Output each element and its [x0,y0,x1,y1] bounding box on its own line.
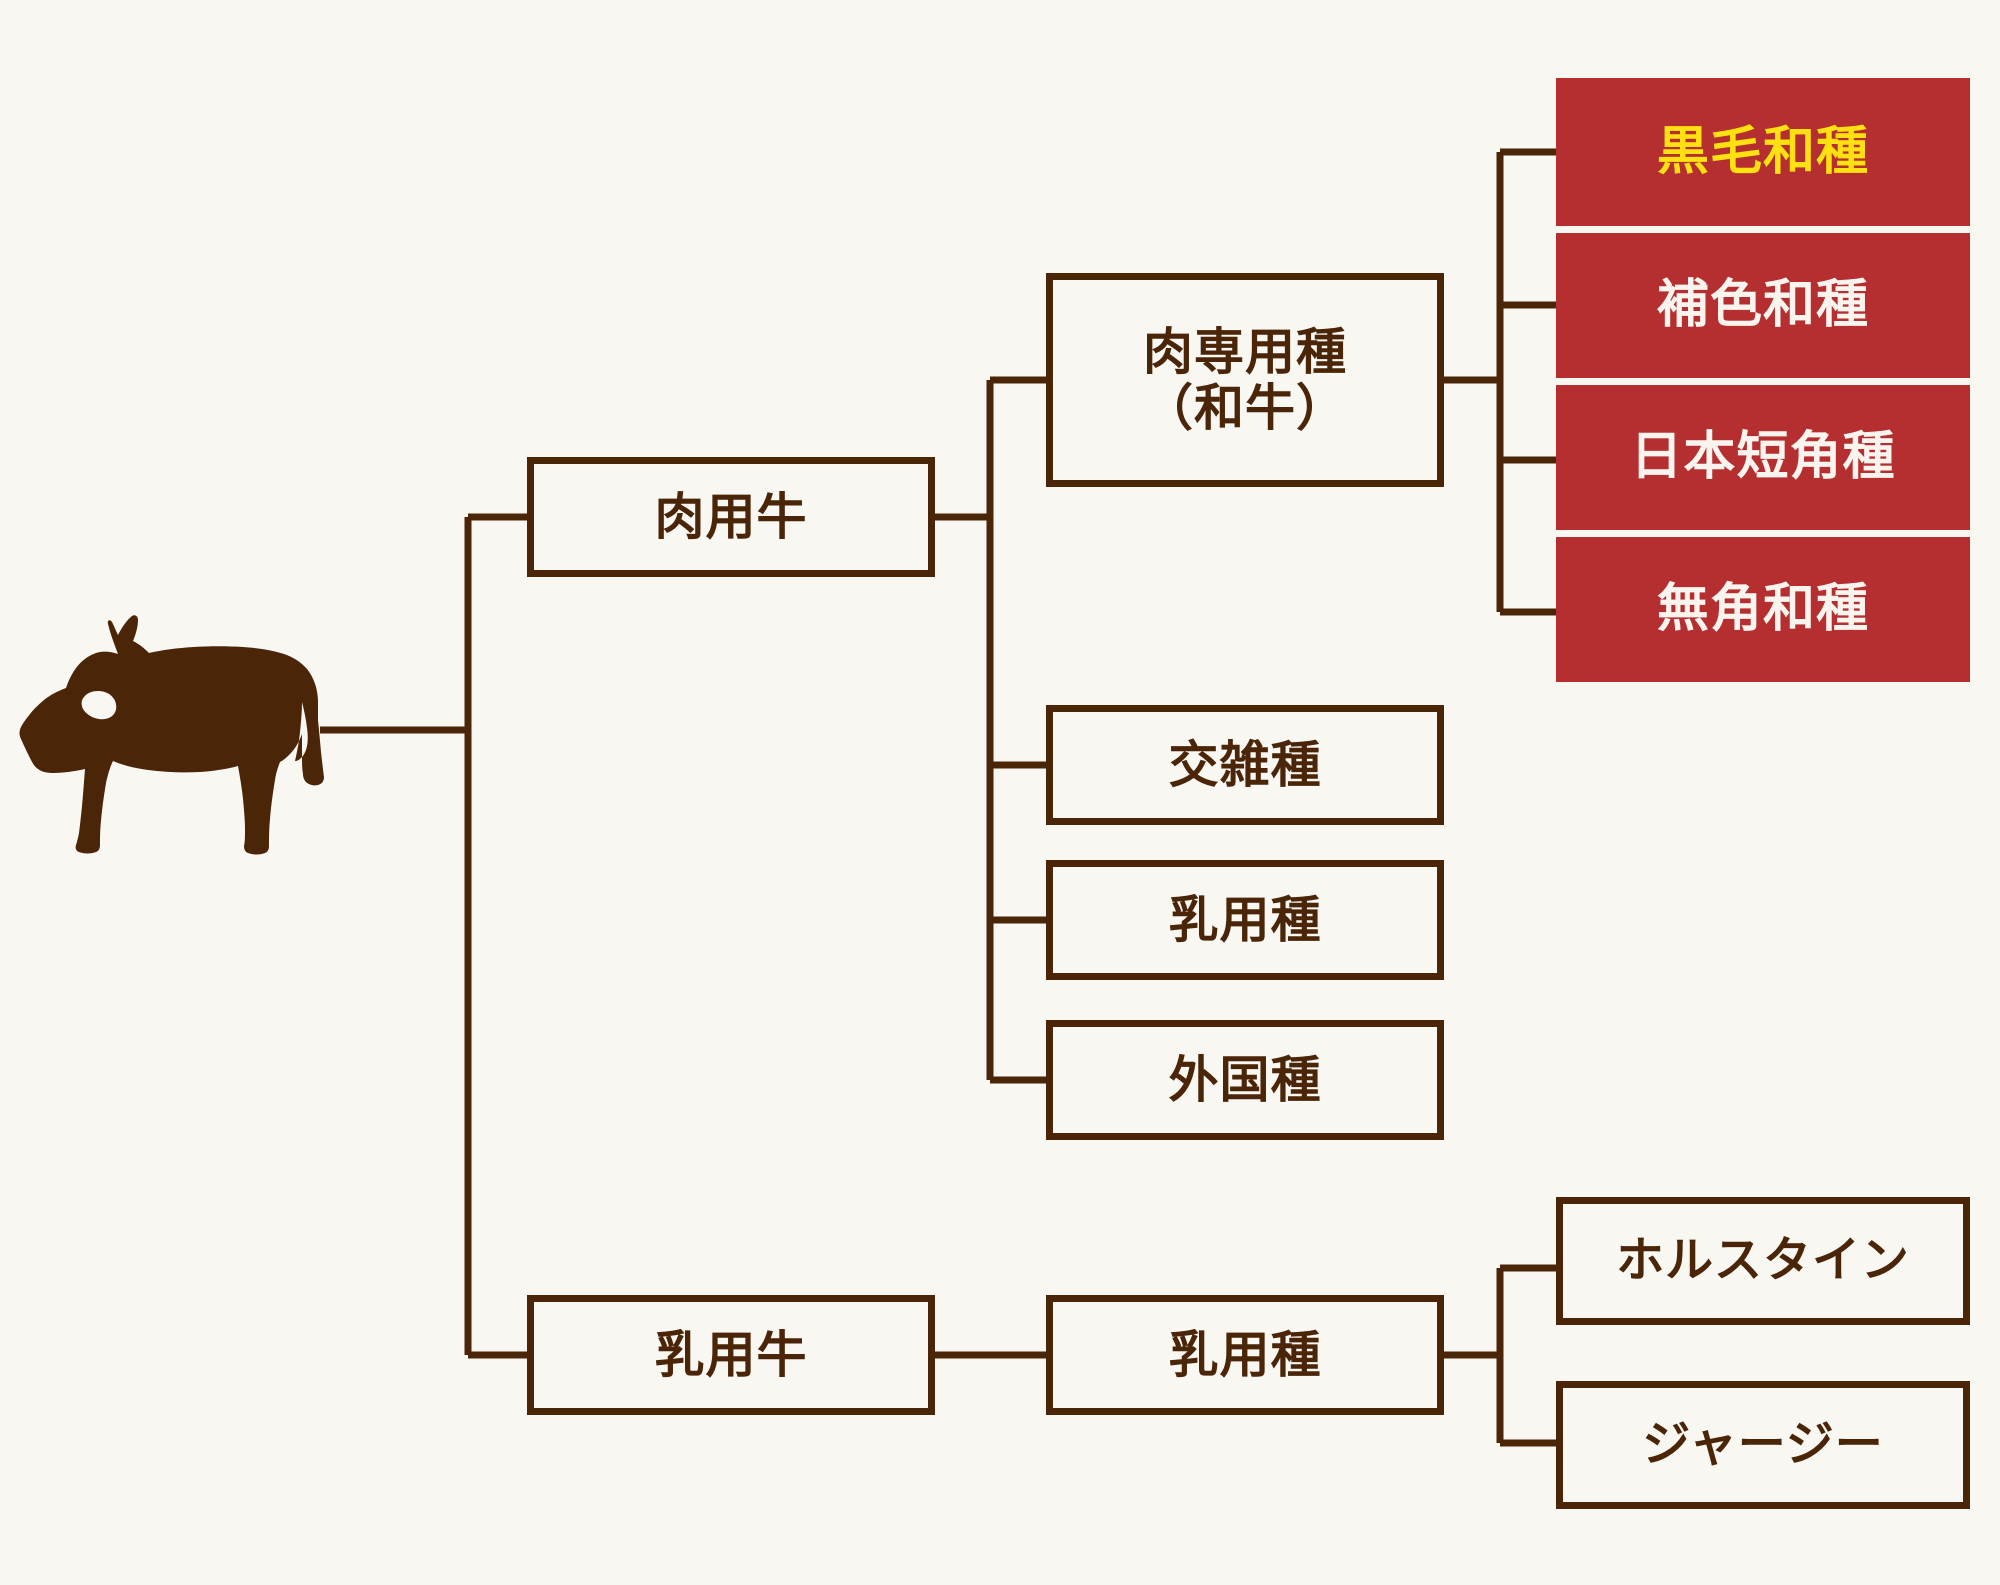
node-beef-cattle[interactable]: 肉用牛 [527,457,935,577]
node-beef-dedicated[interactable]: 肉専用種 （和牛） [1046,273,1444,487]
node-dairy-cattle-label: 乳用牛 [655,1327,808,1383]
node-mukaku-wagyu[interactable]: 無角和種 [1556,537,1970,682]
node-beef-cattle-label: 肉用牛 [655,489,808,545]
diagram-canvas: 肉用牛 乳用牛 肉専用種 （和牛） 交雑種 乳用種 外国種 乳用種 黒毛和種 補… [0,0,2000,1585]
node-dairy-type-label: 乳用種 [1169,1327,1322,1383]
node-dairy-type[interactable]: 乳用種 [1046,1295,1444,1415]
node-beef-dedicated-label: 肉専用種 （和牛） [1143,324,1347,436]
node-nihon-tankaku[interactable]: 日本短角種 [1556,385,1970,530]
node-kuroge-wagyu[interactable]: 黒毛和種 [1556,78,1970,226]
node-dairy-cattle[interactable]: 乳用牛 [527,1295,935,1415]
node-crossbred[interactable]: 交雑種 [1046,705,1444,825]
node-crossbred-label: 交雑種 [1169,737,1322,793]
node-jersey-label: ジャージー [1642,1418,1883,1472]
node-foreign-breed[interactable]: 外国種 [1046,1020,1444,1140]
node-holstein[interactable]: ホルスタイン [1556,1197,1970,1325]
node-nihon-tankaku-label: 日本短角種 [1630,428,1895,486]
node-dairy-type-beef-label: 乳用種 [1169,892,1322,948]
node-dairy-type-beef[interactable]: 乳用種 [1046,860,1444,980]
cow-silhouette-icon [14,602,344,862]
node-foreign-breed-label: 外国種 [1169,1052,1322,1108]
node-jersey[interactable]: ジャージー [1556,1381,1970,1509]
node-kuroge-wagyu-label: 黒毛和種 [1657,123,1869,181]
node-hoshoku-wagyu-label: 補色和種 [1657,276,1869,334]
node-hoshoku-wagyu[interactable]: 補色和種 [1556,233,1970,378]
node-holstein-label: ホルスタイン [1616,1234,1910,1288]
node-mukaku-wagyu-label: 無角和種 [1657,580,1869,638]
